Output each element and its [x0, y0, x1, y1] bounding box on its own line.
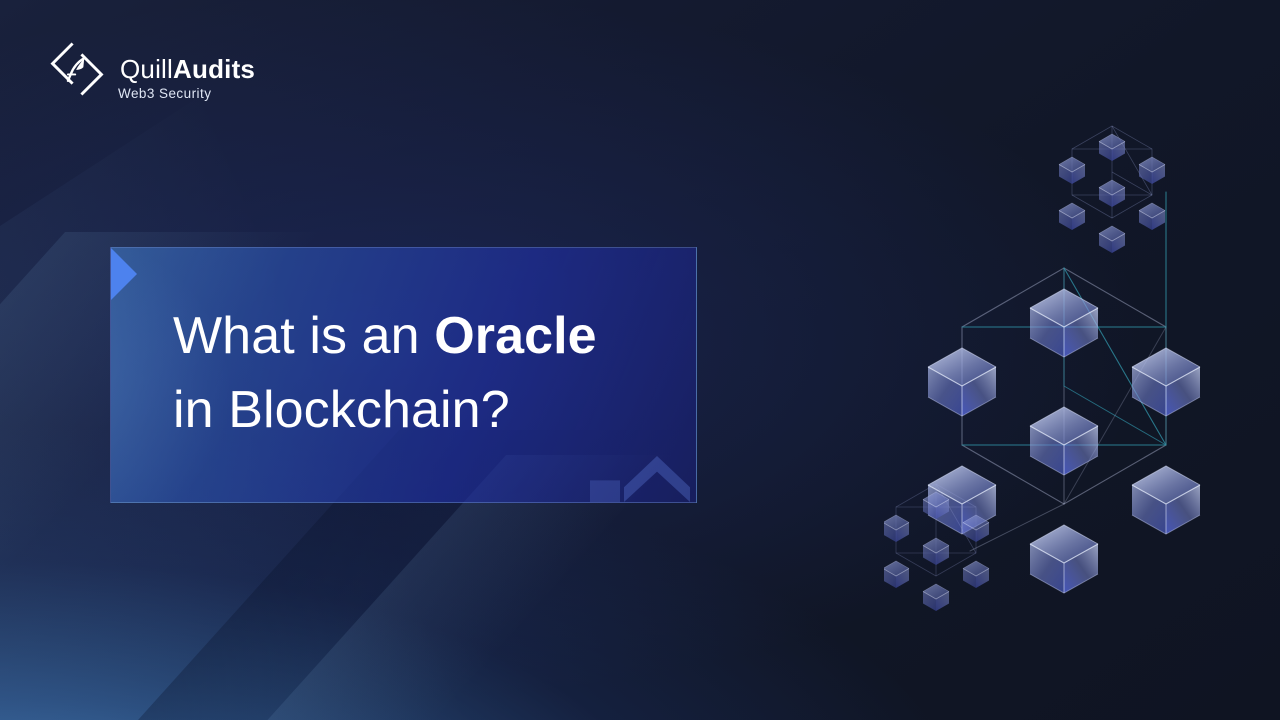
satellite2-cube-upper-left — [884, 515, 909, 542]
quill-diamond-code-brackets-icon — [48, 40, 106, 98]
satellite2-cube-lower-right — [963, 561, 989, 588]
cube-node-lower-right — [1132, 466, 1200, 534]
satellite-cube-bottom — [1099, 226, 1125, 253]
brand-name-light: Quill — [120, 54, 173, 84]
chevron-up-marker-icon — [624, 456, 690, 502]
brand-name-bold: Audits — [173, 54, 255, 84]
cube-node-bottom — [1030, 525, 1098, 593]
headline-line-1: What is an Oracle — [173, 307, 597, 365]
cube-node-center — [1030, 407, 1098, 475]
logo-wordmark: QuillAudits — [120, 56, 255, 82]
brand-name: QuillAudits — [120, 56, 255, 82]
satellite2-cube-lower-left — [884, 561, 909, 588]
headline-regular-text: What is an — [173, 307, 434, 365]
headline-bold-keyword: Oracle — [434, 307, 597, 365]
logo-tagline: Web3 Security — [118, 86, 211, 101]
chevron-square-accent-icon — [590, 472, 620, 502]
satellite-cube-center — [1099, 180, 1125, 207]
satellite2-cube-bottom — [923, 584, 949, 611]
satellite2-cube-center — [923, 538, 949, 565]
satellite-cube-lower-right — [1139, 203, 1165, 230]
satellite-cube-upper-left — [1059, 157, 1085, 184]
satellite-cube-top — [1099, 134, 1125, 161]
cube-node-upper-left — [928, 348, 996, 416]
banner-canvas: QuillAudits Web3 Security What is an Ora… — [0, 0, 1280, 720]
isometric-blockchain-network-graphic — [884, 96, 1244, 616]
headline-line-2: in Blockchain? — [173, 381, 510, 439]
cube-node-upper-right — [1132, 348, 1200, 416]
headline-card: What is an Oracle in Blockchain? — [110, 247, 697, 503]
satellite-cluster-top-right — [1059, 126, 1165, 253]
cube-node-top — [1030, 289, 1098, 357]
satellite-cube-lower-left — [1059, 203, 1085, 230]
page-title: What is an Oracle in Blockchain? — [173, 300, 597, 448]
